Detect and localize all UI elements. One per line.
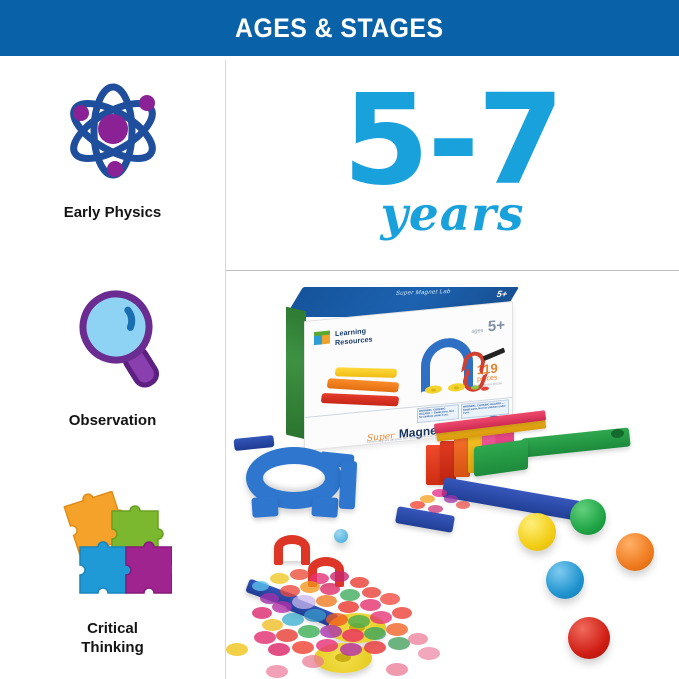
age-range-unit: years: [381, 191, 525, 238]
magnetic-marble-yellow: [518, 513, 556, 551]
feature-critical-thinking: Critical Thinking: [0, 488, 225, 658]
feature-label: Critical Thinking: [81, 620, 144, 658]
magnetic-chips-pile: [246, 567, 446, 677]
box-art-ring-magnet-1: [425, 385, 442, 395]
puzzle-pieces-icon: [53, 488, 173, 606]
box-art-ring-magnet-2: [448, 383, 465, 393]
page-title: AGES & STAGES: [235, 13, 443, 44]
box-art-chip-pile: [313, 415, 369, 438]
feature-label-line-1: Critical: [81, 620, 144, 639]
product-photo-panel: Super Magnet Lab 5+ Learning Resources a…: [226, 271, 679, 679]
box-warning-left-text: WARNING: CHOKING HAZARD — Small parts. N…: [418, 405, 458, 421]
box-side-face: [286, 307, 306, 440]
box-ages-block: ages 5+: [472, 317, 506, 338]
box-art-chip-red: [481, 386, 489, 391]
feature-label-line-2: Thinking: [81, 639, 144, 658]
header-banner: AGES & STAGES: [0, 0, 679, 56]
magnetic-chip-pink-edge: [386, 663, 408, 676]
puzzle-pieces-icon-svg: [54, 491, 172, 603]
box-warning-right-text: WARNING: CHOKING HAZARD — Small parts. N…: [462, 400, 508, 416]
feature-label: Early Physics: [64, 204, 162, 223]
feature-observation: Observation: [0, 280, 225, 431]
box-ages-label: ages: [472, 328, 484, 335]
features-sidebar: Early Physics Observation: [0, 58, 225, 679]
brand-cube-icon: [314, 330, 331, 349]
horseshoe-magnet-large-blue: [246, 447, 366, 525]
magnetic-marble-blue: [546, 561, 584, 599]
box-art-wand-red: [321, 393, 400, 406]
magnifying-glass-icon-svg: [58, 283, 168, 395]
feature-early-physics: Early Physics: [0, 72, 225, 223]
atom-icon-svg: [57, 75, 169, 187]
box-art-bar-magnet: [483, 348, 505, 361]
atom-icon: [53, 72, 173, 190]
age-range-value: 5-7: [343, 92, 563, 190]
magnetic-chip-cyan: [334, 529, 348, 543]
box-art-wand-yellow: [335, 367, 398, 378]
magnetic-marble-red: [568, 617, 610, 659]
magnetic-chip-yellow-edge: [226, 643, 248, 656]
feature-label: Observation: [69, 412, 157, 431]
magnetic-marble-green: [570, 499, 606, 535]
brand-name: Learning Resources: [335, 327, 373, 347]
magnetic-chips-on-wand: [410, 487, 480, 517]
magnetic-chip-pink-edge-2: [266, 665, 288, 678]
box-ages-value: 5+: [488, 317, 505, 336]
brand-logo: Learning Resources: [314, 326, 373, 349]
infographic-page: AGES & STAGES Early Physics: [0, 0, 679, 679]
magnetic-wand-green: [474, 429, 634, 473]
magnetic-marble-orange: [616, 533, 654, 571]
age-range-panel: 5-7 years: [226, 60, 679, 270]
box-art-wand-orange: [327, 378, 400, 392]
magnifying-glass-icon: [53, 280, 173, 398]
brand-line-2: Resources: [335, 335, 373, 347]
